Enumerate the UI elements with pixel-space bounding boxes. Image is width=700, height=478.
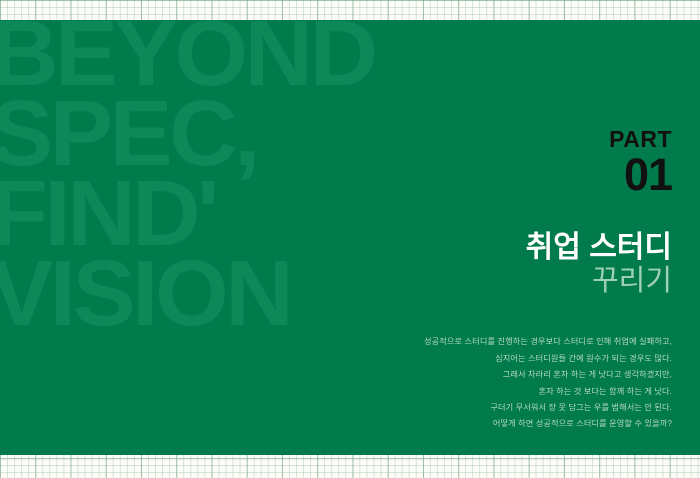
body-line: 구더기 무서워서 장 못 담그는 우를 범해서는 안 된다. (252, 400, 672, 416)
page-title: 취업 스터디 꾸리기 (252, 232, 672, 297)
content-column: PART 01 취업 스터디 꾸리기 성공적으로 스터디를 진행하는 경우보다 … (252, 20, 672, 433)
body-line: 심지어는 스터디원들 간에 원수가 되는 경우도 많다. (252, 351, 672, 367)
part-number: 01 (252, 152, 672, 198)
body-line: 성공적으로 스터디를 진행하는 경우보다 스터디로 인해 취업에 실패하고, (252, 334, 672, 350)
body-line: 어떻게 하면 성공적으로 스터디를 운영할 수 있을까? (252, 416, 672, 432)
title-sub: 꾸리기 (252, 266, 672, 297)
body-paragraph: 성공적으로 스터디를 진행하는 경우보다 스터디로 인해 취업에 실패하고, 심… (252, 334, 672, 432)
body-line: 그래서 차라리 혼자 하는 게 낫다고 생각하겠지만, (252, 367, 672, 383)
body-line: 혼자 하는 것 보다는 함께 하는 게 낫다. (252, 384, 672, 400)
title-main: 취업 스터디 (252, 232, 672, 264)
part-label: PART (252, 128, 672, 151)
part-divider-page: BEYOND SPEC, FIND' VISION PART 01 취업 스터디… (0, 0, 700, 478)
green-panel: BEYOND SPEC, FIND' VISION PART 01 취업 스터디… (0, 20, 700, 455)
part-block: PART 01 (252, 128, 672, 198)
